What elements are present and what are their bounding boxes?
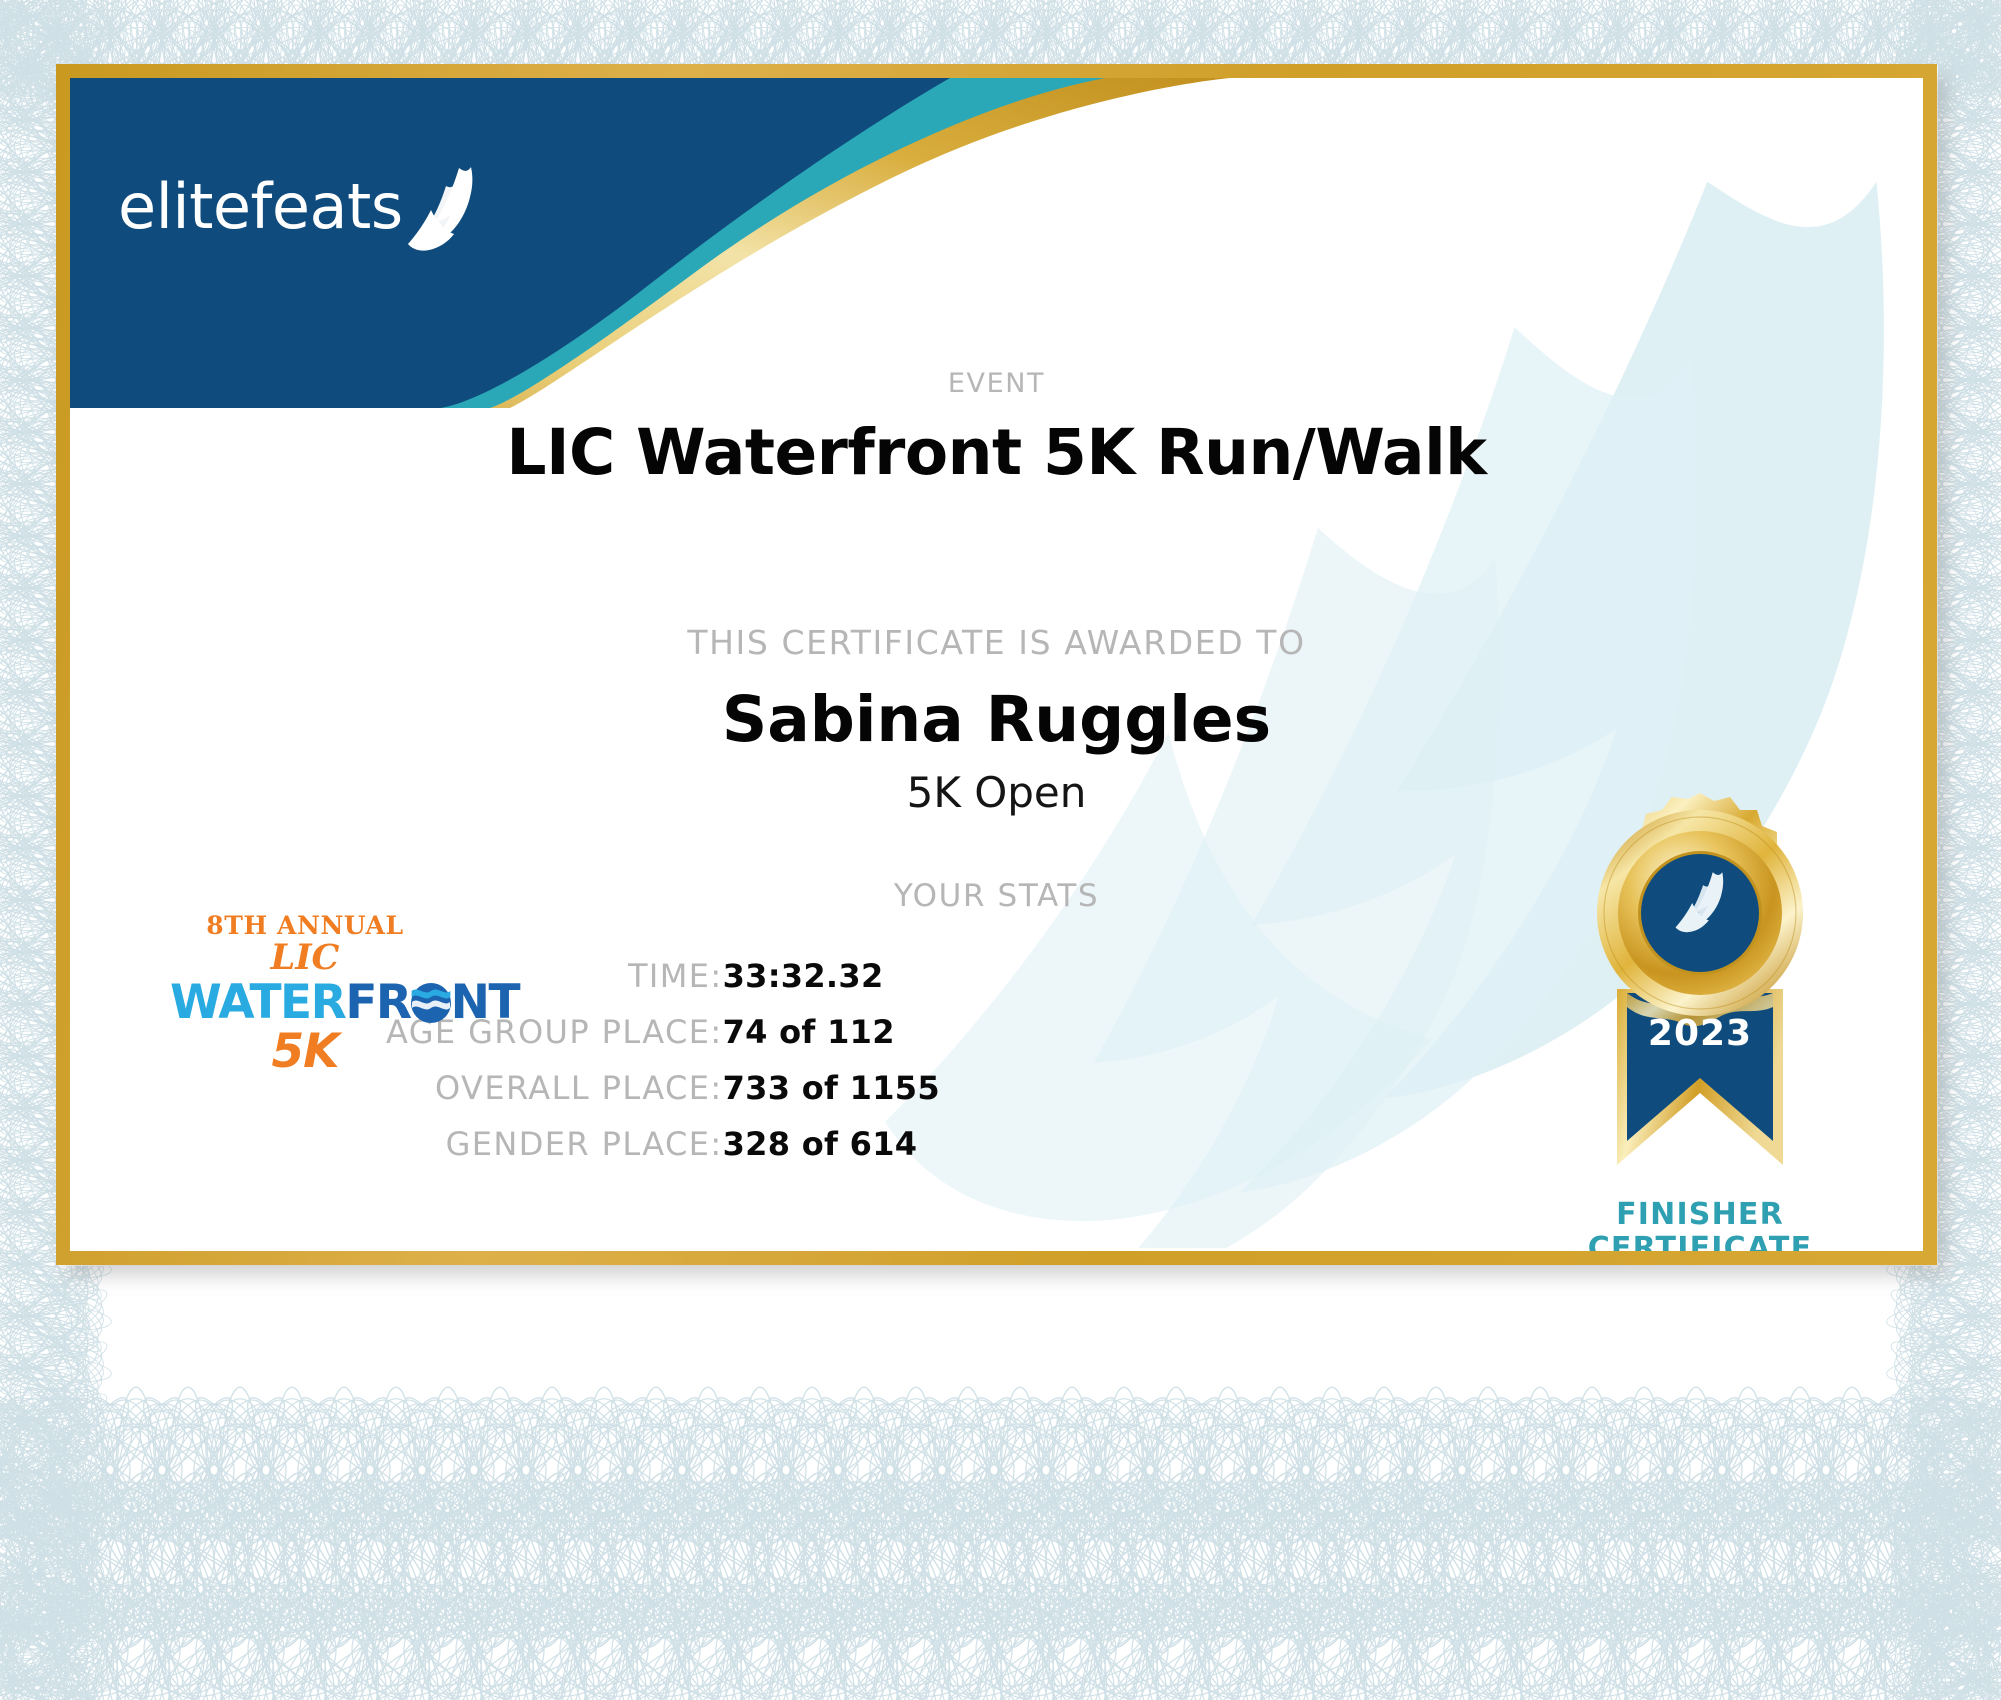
- race-logo-annual: 8TH ANNUAL: [170, 913, 440, 938]
- certificate-content: EVENT LIC Waterfront 5K Run/Walk THIS CE…: [70, 78, 1923, 1251]
- race-logo-distance: 5K: [170, 1027, 440, 1076]
- race-logo-water: WATER: [170, 975, 345, 1030]
- stat-value: 33:32.32: [723, 948, 940, 1004]
- lic-waterfront-5k-logo: 8TH ANNUAL LIC WATERFR NT 5K: [170, 913, 440, 1076]
- medal-year: 2023: [1648, 1013, 1752, 1054]
- race-logo-nt: NT: [451, 975, 519, 1030]
- race-logo-waterfront: WATERFR NT: [170, 979, 440, 1026]
- stat-value: 733 of 1155: [723, 1060, 940, 1116]
- finisher-medal-badge: 2023 FINISHER CERTIFICATE: [1555, 793, 1845, 1251]
- stats-row: GENDER PLACE:328 of 614: [386, 1116, 940, 1172]
- certificate-page: elitefeats EVENT LIC Waterfront 5K Run/W…: [0, 0, 2001, 1700]
- recipient-name: Sabina Ruggles: [70, 683, 1923, 756]
- awarded-to-label: THIS CERTIFICATE IS AWARDED TO: [70, 623, 1923, 662]
- stat-value: 328 of 614: [723, 1116, 940, 1172]
- medal-ribbon-icon: 2023: [1555, 793, 1845, 1188]
- stat-value: 74 of 112: [723, 1004, 940, 1060]
- race-logo-lic: LIC: [170, 940, 440, 977]
- stat-label: GENDER PLACE:: [386, 1116, 723, 1172]
- caption-line-2: CERTIFICATE: [1555, 1232, 1845, 1251]
- certificate-body: elitefeats EVENT LIC Waterfront 5K Run/W…: [70, 78, 1923, 1251]
- event-label: EVENT: [70, 368, 1923, 399]
- caption-line-1: FINISHER: [1555, 1198, 1845, 1232]
- water-circle-icon: [410, 982, 452, 1024]
- event-title: LIC Waterfront 5K Run/Walk: [70, 416, 1923, 489]
- race-logo-fr: FR: [345, 975, 410, 1030]
- finisher-certificate-caption: FINISHER CERTIFICATE: [1555, 1198, 1845, 1251]
- gold-frame-border: elitefeats EVENT LIC Waterfront 5K Run/W…: [56, 64, 1937, 1265]
- stats-row: OVERALL PLACE:733 of 1155: [386, 1060, 940, 1116]
